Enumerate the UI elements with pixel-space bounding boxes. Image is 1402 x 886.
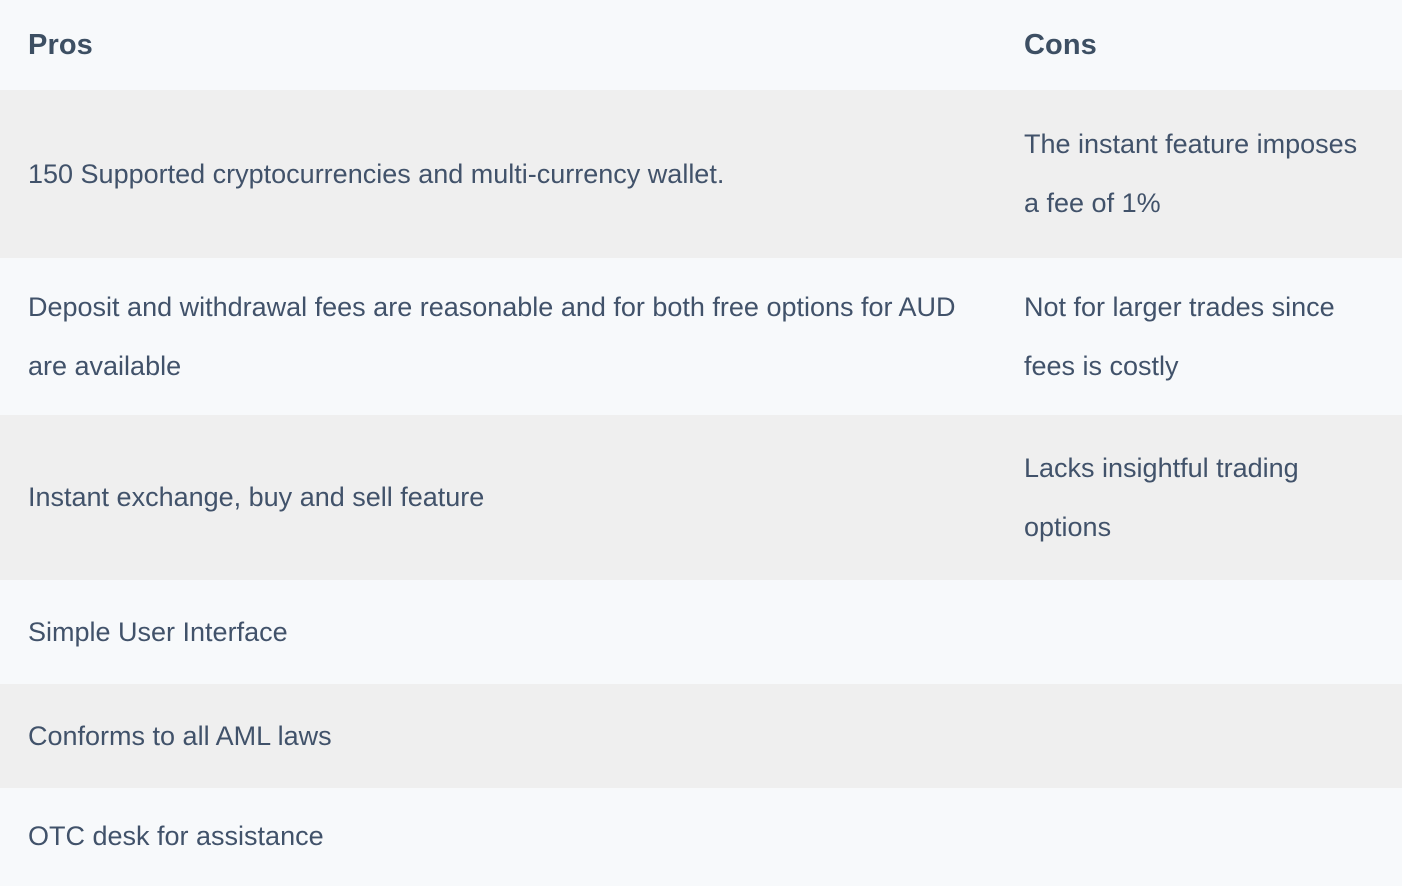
cell-pros-text: Simple User Interface	[28, 603, 974, 662]
cell-cons	[996, 580, 1402, 684]
cell-pros: Simple User Interface	[0, 580, 996, 684]
table-row: Deposit and withdrawal fees are reasonab…	[0, 258, 1402, 415]
table-body: 150 Supported cryptocurrencies and multi…	[0, 90, 1402, 884]
cell-pros: OTC desk for assistance	[0, 788, 996, 884]
cell-pros: Conforms to all AML laws	[0, 684, 996, 788]
table-row: OTC desk for assistance	[0, 788, 1402, 884]
cell-pros: 150 Supported cryptocurrencies and multi…	[0, 90, 996, 258]
table-header-row: Pros Cons	[0, 0, 1402, 90]
cell-cons	[996, 788, 1402, 884]
column-header-cons: Cons	[996, 0, 1402, 90]
cell-cons-text: Not for larger trades since fees is cost…	[1024, 278, 1372, 396]
cell-cons: The instant feature imposes a fee of 1%	[996, 90, 1402, 258]
table-row: Simple User Interface	[0, 580, 1402, 684]
pros-cons-table-container: Pros Cons 150 Supported cryptocurrencies…	[0, 0, 1402, 886]
table-header: Pros Cons	[0, 0, 1402, 90]
cell-pros-text: Conforms to all AML laws	[28, 707, 974, 766]
cell-cons-text: The instant feature imposes a fee of 1%	[1024, 115, 1372, 233]
pros-cons-table: Pros Cons 150 Supported cryptocurrencies…	[0, 0, 1402, 884]
cell-cons: Lacks insightful trading options	[996, 415, 1402, 580]
cell-pros-text: Instant exchange, buy and sell feature	[28, 468, 974, 527]
table-row: 150 Supported cryptocurrencies and multi…	[0, 90, 1402, 258]
cell-pros: Deposit and withdrawal fees are reasonab…	[0, 258, 996, 415]
cell-cons	[996, 684, 1402, 788]
table-row: Conforms to all AML laws	[0, 684, 1402, 788]
cell-pros-text: OTC desk for assistance	[28, 807, 974, 866]
cell-pros: Instant exchange, buy and sell feature	[0, 415, 996, 580]
column-header-pros: Pros	[0, 0, 996, 90]
cell-pros-text: 150 Supported cryptocurrencies and multi…	[28, 145, 974, 204]
cell-cons-text: Lacks insightful trading options	[1024, 439, 1372, 557]
table-row: Instant exchange, buy and sell feature L…	[0, 415, 1402, 580]
cell-cons: Not for larger trades since fees is cost…	[996, 258, 1402, 415]
cell-pros-text: Deposit and withdrawal fees are reasonab…	[28, 278, 974, 396]
